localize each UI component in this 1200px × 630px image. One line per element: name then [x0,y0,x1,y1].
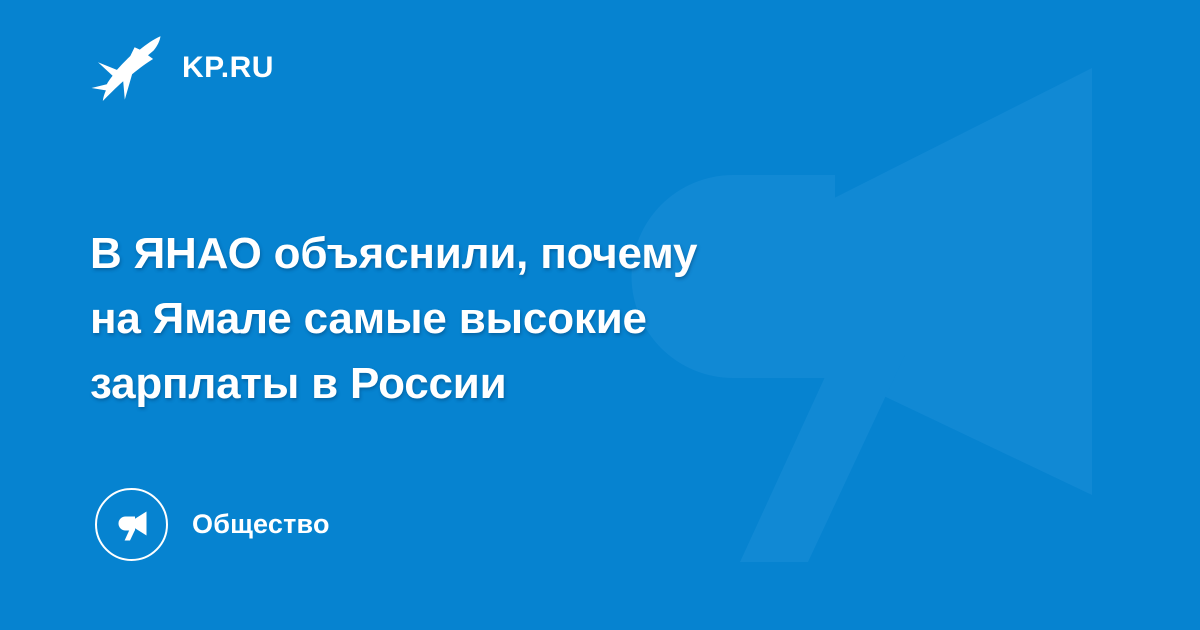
brand-name: KP.RU [182,53,274,83]
category-icon-circle [95,488,168,561]
category-badge[interactable]: Общество [95,488,330,561]
megaphone-icon [113,506,151,544]
swallow-bird-icon [90,33,164,103]
headline-line-2: на Ямале самые высокие [90,286,900,351]
brand-logo[interactable]: KP.RU [90,33,274,103]
article-share-card: KP.RU В ЯНАО объяснили, почему на Ямале … [0,0,1200,630]
headline-line-3: зарплаты в России [90,351,900,416]
category-label: Общество [192,511,330,538]
headline-line-1: В ЯНАО объяснили, почему [90,221,900,286]
page-title: В ЯНАО объяснили, почему на Ямале самые … [90,221,900,416]
